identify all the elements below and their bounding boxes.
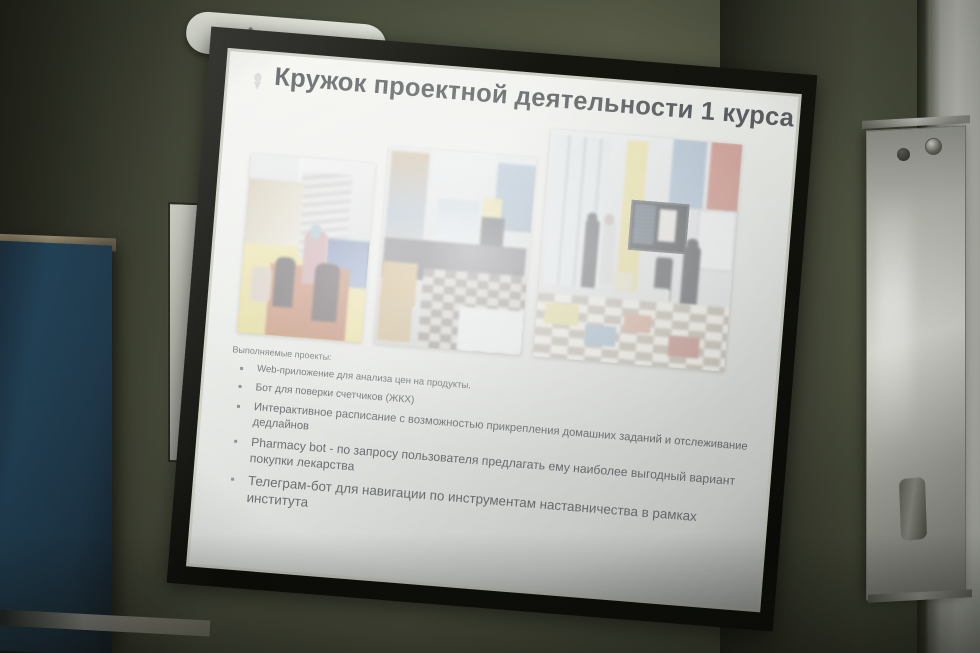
- screen-trim: Кружок проектной деятельности 1 курса: [186, 48, 802, 613]
- projection-screen: Кружок проектной деятельности 1 курса: [178, 10, 806, 620]
- photo-atrium-screen: [533, 129, 743, 372]
- whiteboard-knob-icon: [897, 148, 910, 161]
- whiteboard-lock-icon: [925, 138, 942, 155]
- slide-body: Выполняемые проекты: Web-приложение для …: [220, 344, 766, 553]
- institute-emblem-icon: [249, 71, 265, 91]
- presentation-slide: Кружок проектной деятельности 1 курса: [189, 51, 798, 609]
- whiteboard-marker-tray: [899, 477, 927, 541]
- floor-shadow: [0, 533, 980, 653]
- photo-colorful-lounge: [237, 153, 376, 342]
- photo-audience-hall: [373, 146, 536, 355]
- slide-photo-row: [234, 105, 777, 378]
- classroom-scene: Кружок проектной деятельности 1 курса: [0, 0, 980, 653]
